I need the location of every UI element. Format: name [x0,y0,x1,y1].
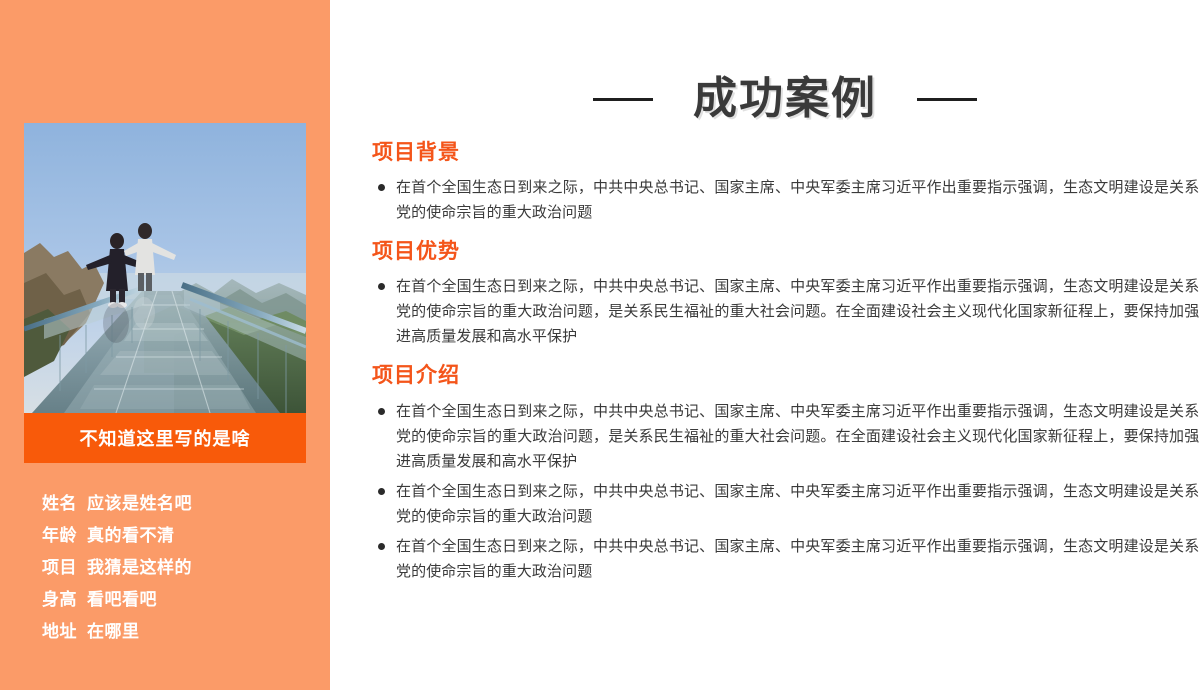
section-background: 项目背景 在首个全国生态日到来之际，中共中央总书记、国家主席、中央军委主席习近平… [372,140,1200,225]
info-row-height: 身高 看吧看吧 [42,585,312,617]
bullet-item: 在首个全国生态日到来之际，中共中央总书记、国家主席、中央军委主席习近平作出重要指… [372,534,1200,584]
info-label: 年龄 [42,521,77,546]
section-advantages: 项目优势 在首个全国生态日到来之际，中共中央总书记、国家主席、中央军委主席习近平… [372,239,1200,349]
info-row-project: 项目 我猜是这样的 [42,553,312,585]
bullet-list: 在首个全国生态日到来之际，中共中央总书记、国家主席、中央军委主席习近平作出重要指… [372,175,1200,225]
info-row-age: 年龄 真的看不清 [42,521,312,553]
info-value: 应该是姓名吧 [87,489,192,514]
bullet-item: 在首个全国生态日到来之际，中共中央总书记、国家主席、中央军委主席习近平作出重要指… [372,175,1200,225]
bullet-item: 在首个全国生态日到来之际，中共中央总书记、国家主席、中央军委主席习近平作出重要指… [372,274,1200,349]
bullet-item: 在首个全国生态日到来之际，中共中央总书记、国家主席、中央军委主席习近平作出重要指… [372,479,1200,529]
info-row-address: 地址 在哪里 [42,617,312,649]
info-value: 我猜是这样的 [87,553,192,578]
title-rule-left-icon [593,98,653,101]
profile-info-list: 姓名 应该是姓名吧 年龄 真的看不清 项目 我猜是这样的 身高 看吧看吧 地址 … [42,489,312,649]
bullet-item: 在首个全国生态日到来之际，中共中央总书记、国家主席、中央军委主席习近平作出重要指… [372,399,1200,474]
skywalk-photo-illustration [24,123,306,413]
bullet-list: 在首个全国生态日到来之际，中共中央总书记、国家主席、中央军委主席习近平作出重要指… [372,274,1200,349]
info-label: 地址 [42,617,77,642]
skywalk-photo [24,123,306,413]
title-rule-right-icon [917,98,977,101]
info-row-name: 姓名 应该是姓名吧 [42,489,312,521]
content-panel: 成功案例 项目背景 在首个全国生态日到来之际，中共中央总书记、国家主席、中央军委… [330,0,1200,690]
sections-container: 项目背景 在首个全国生态日到来之际，中共中央总书记、国家主席、中央军委主席习近平… [372,140,1200,589]
info-label: 姓名 [42,489,77,514]
sidebar-panel: 不知道这里写的是啥 姓名 应该是姓名吧 年龄 真的看不清 项目 我猜是这样的 身… [0,0,330,690]
section-heading: 项目优势 [372,239,1200,264]
photo-caption: 不知道这里写的是啥 [24,413,306,463]
profile-card: 不知道这里写的是啥 [24,123,306,463]
slide-root: 不知道这里写的是啥 姓名 应该是姓名吧 年龄 真的看不清 项目 我猜是这样的 身… [0,0,1200,690]
info-label: 项目 [42,553,77,578]
page-title: 成功案例 [693,77,877,121]
info-value: 真的看不清 [87,521,175,546]
section-heading: 项目介绍 [372,363,1200,388]
title-block: 成功案例 [330,48,1200,151]
info-value: 看吧看吧 [87,585,157,610]
bullet-list: 在首个全国生态日到来之际，中共中央总书记、国家主席、中央军委主席习近平作出重要指… [372,399,1200,584]
info-value: 在哪里 [87,617,140,642]
section-heading: 项目背景 [372,140,1200,165]
info-label: 身高 [42,585,77,610]
section-introduction: 项目介绍 在首个全国生态日到来之际，中共中央总书记、国家主席、中央军委主席习近平… [372,363,1200,583]
